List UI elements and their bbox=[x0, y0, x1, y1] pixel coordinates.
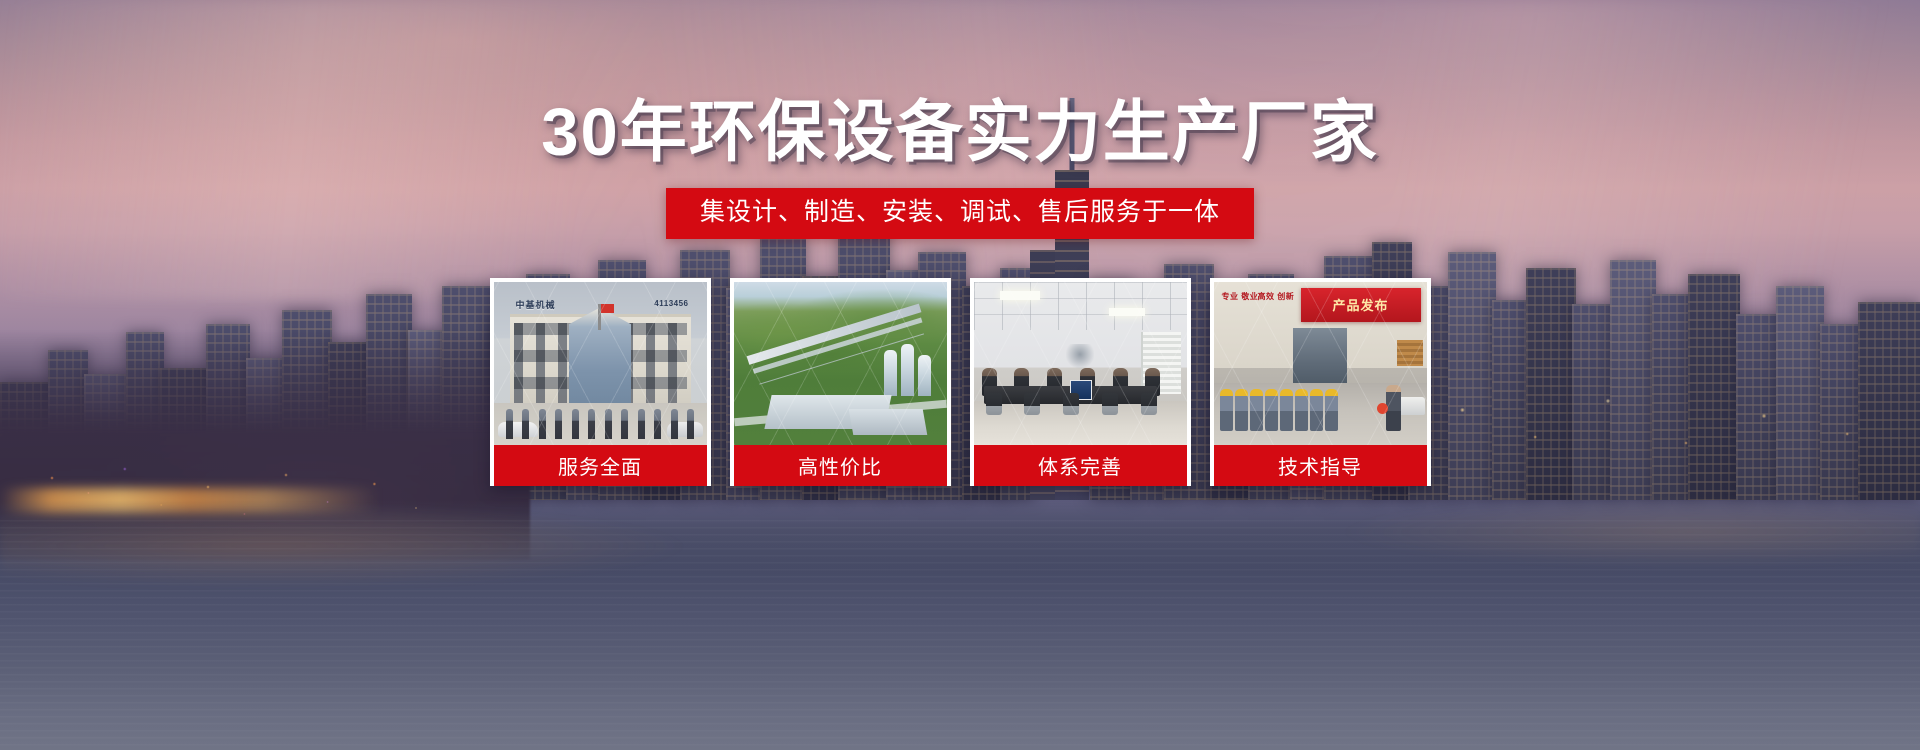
feature-card[interactable]: 高性价比 bbox=[730, 278, 951, 486]
feature-card-list: 中基机械 4113456 服务全面 bbox=[490, 278, 1431, 486]
feature-card[interactable]: 中基机械 4113456 服务全面 bbox=[490, 278, 711, 486]
banner-content: 30年环保设备实力生产厂家 集设计、制造、安装、调试、售后服务于一体 中基机械 … bbox=[0, 0, 1920, 750]
card-label: 服务全面 bbox=[494, 445, 707, 486]
card-photo-office-meeting bbox=[974, 282, 1187, 445]
banner-subtitle-bar: 集设计、制造、安装、调试、售后服务于一体 bbox=[666, 188, 1254, 239]
feature-card[interactable]: 专业 敬业 高效 创新 产品发布 技术指导 bbox=[1210, 278, 1431, 486]
workshop-red-banner: 产品发布 bbox=[1301, 288, 1421, 322]
flag-icon bbox=[598, 304, 601, 330]
card-label: 体系完善 bbox=[974, 445, 1187, 486]
card-photo-office-building: 中基机械 4113456 bbox=[494, 282, 707, 445]
hero-banner: 30年环保设备实力生产厂家 集设计、制造、安装、调试、售后服务于一体 中基机械 … bbox=[0, 0, 1920, 750]
banner-headline: 30年环保设备实力生产厂家 bbox=[541, 99, 1379, 166]
card-label: 高性价比 bbox=[734, 445, 947, 486]
workshop-slogan-left: 专业 敬业 bbox=[1222, 292, 1259, 302]
building-phone-text: 4113456 bbox=[654, 299, 688, 308]
card-label: 技术指导 bbox=[1214, 445, 1427, 486]
workshop-slogan-right: 高效 创新 bbox=[1258, 292, 1295, 302]
card-photo-workshop-workers: 专业 敬业 高效 创新 产品发布 bbox=[1214, 282, 1427, 445]
building-sign-text: 中基机械 bbox=[516, 298, 556, 311]
card-photo-aerial-plant bbox=[734, 282, 947, 445]
feature-card[interactable]: 体系完善 bbox=[970, 278, 1191, 486]
